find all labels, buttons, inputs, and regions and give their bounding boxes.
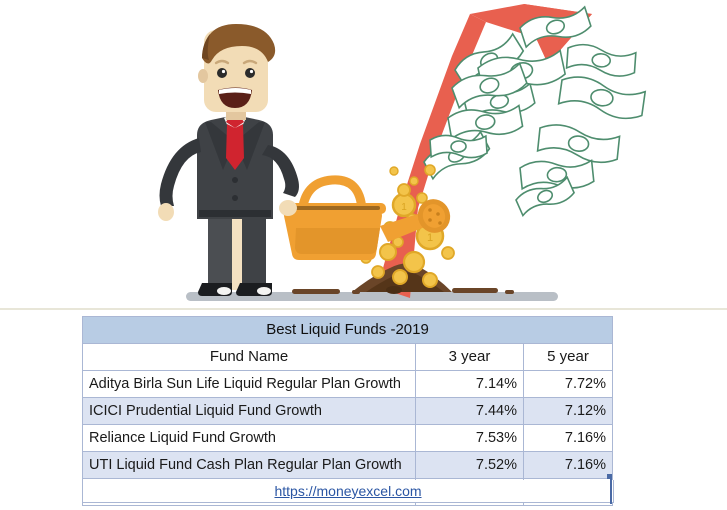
table-row: ICICI Prudential Liquid Fund Growth 7.44… bbox=[83, 398, 613, 425]
fund-5-year-return: 7.16% bbox=[524, 452, 613, 479]
section-divider bbox=[0, 308, 727, 310]
fund-5-year-return: 7.16% bbox=[524, 425, 613, 452]
fund-5-year-return: 7.12% bbox=[524, 398, 613, 425]
table-row: UTI Liquid Fund Cash Plan Regular Plan G… bbox=[83, 452, 613, 479]
fund-3-year-return: 7.14% bbox=[416, 371, 524, 398]
fund-5-year-return: 7.72% bbox=[524, 371, 613, 398]
best-liquid-funds-table-container: Best Liquid Funds -2019 Fund Name 3 year… bbox=[82, 316, 612, 506]
best-liquid-funds-table: Best Liquid Funds -2019 Fund Name 3 year… bbox=[82, 316, 613, 506]
svg-text:1: 1 bbox=[427, 232, 433, 244]
illustration-investment-growth: 1 1 bbox=[0, 0, 727, 309]
source-url-link[interactable]: https://moneyexcel.com bbox=[274, 483, 421, 499]
eye-left bbox=[217, 68, 227, 78]
column-header-fund-name: Fund Name bbox=[83, 344, 416, 371]
fund-name: UTI Liquid Fund Cash Plan Regular Plan G… bbox=[83, 452, 416, 479]
fund-3-year-return: 7.53% bbox=[416, 425, 524, 452]
source-url-row: https://moneyexcel.com bbox=[82, 480, 614, 503]
svg-text:1: 1 bbox=[401, 202, 407, 213]
selection-edge bbox=[610, 478, 612, 504]
table-title-row: Best Liquid Funds -2019 bbox=[83, 317, 613, 344]
column-header-5-year: 5 year bbox=[524, 344, 613, 371]
fund-name: ICICI Prudential Liquid Fund Growth bbox=[83, 398, 416, 425]
hand-right bbox=[279, 200, 297, 216]
fund-3-year-return: 7.44% bbox=[416, 398, 524, 425]
dollar-bills bbox=[422, 3, 646, 219]
table-title: Best Liquid Funds -2019 bbox=[83, 317, 613, 344]
arm-left bbox=[160, 138, 202, 206]
table-header-row: Fund Name 3 year 5 year bbox=[83, 344, 613, 371]
fund-name: Reliance Liquid Fund Growth bbox=[83, 425, 416, 452]
trouser-right bbox=[242, 215, 266, 290]
businessman-character bbox=[158, 24, 299, 296]
trouser-left bbox=[208, 215, 232, 290]
table-row: Aditya Birla Sun Life Liquid Regular Pla… bbox=[83, 371, 613, 398]
fund-3-year-return: 7.52% bbox=[416, 452, 524, 479]
eye-right bbox=[245, 68, 255, 78]
infographic-page: 1 1 bbox=[0, 0, 727, 510]
table-row: Reliance Liquid Fund Growth 7.53% 7.16% bbox=[83, 425, 613, 452]
column-header-3-year: 3 year bbox=[416, 344, 524, 371]
hand-left bbox=[158, 203, 174, 221]
fund-name: Aditya Birla Sun Life Liquid Regular Pla… bbox=[83, 371, 416, 398]
